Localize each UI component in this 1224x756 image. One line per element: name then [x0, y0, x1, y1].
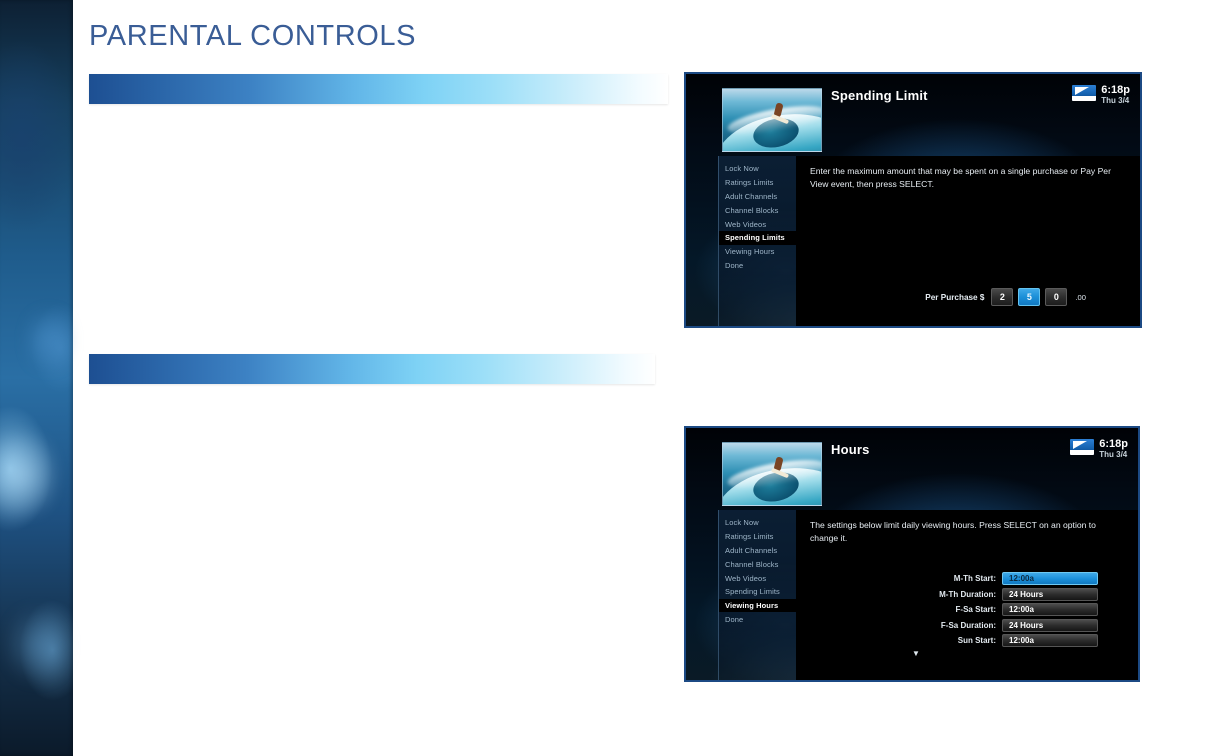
- brand-wordmark: [1070, 450, 1094, 455]
- nav-item-adult-channels[interactable]: Adult Channels: [719, 544, 797, 558]
- section-divider-bar-2: [89, 354, 655, 384]
- amount-digit-2[interactable]: 5: [1018, 288, 1040, 306]
- setting-label: M-Th Duration:: [939, 590, 996, 599]
- nav-item-ratings-limits[interactable]: Ratings Limits: [719, 176, 797, 190]
- nav-item-done[interactable]: Done: [719, 612, 797, 626]
- left-decorative-strip: [0, 0, 73, 756]
- parental-controls-nav[interactable]: Lock Now Ratings Limits Adult Channels C…: [718, 156, 798, 326]
- satellite-dish-icon: [1075, 87, 1089, 95]
- setting-value[interactable]: 24 Hours: [1002, 588, 1098, 601]
- amount-cents: .00: [1075, 293, 1086, 302]
- video-thumbnail: [722, 88, 822, 152]
- light-blob-icon: [26, 300, 72, 380]
- provider-logo-icon: [1072, 85, 1096, 101]
- page-title: PARENTAL CONTROLS: [89, 20, 416, 53]
- amount-digit-3[interactable]: 0: [1045, 288, 1067, 306]
- nav-item-web-videos[interactable]: Web Videos: [719, 571, 797, 585]
- screen-title: Spending Limit: [831, 88, 928, 103]
- setting-row-sun-start[interactable]: Sun Start: 12:00a: [796, 634, 1098, 647]
- setting-label: F-Sa Duration:: [941, 621, 996, 630]
- setting-value[interactable]: 12:00a: [1002, 572, 1098, 585]
- nav-item-lock-now[interactable]: Lock Now: [719, 162, 797, 176]
- setting-row-fsa-duration[interactable]: F-Sa Duration: 24 Hours: [796, 619, 1098, 632]
- setting-row-mth-duration[interactable]: M-Th Duration: 24 Hours: [796, 588, 1098, 601]
- nav-item-spending-limits[interactable]: Spending Limits: [719, 585, 797, 599]
- clock-block: 6:18p Thu 3/4: [1072, 85, 1130, 105]
- section-divider-bar-1: [89, 74, 668, 104]
- spending-limit-entry[interactable]: Per Purchase $ 2 5 0 .00: [796, 288, 1140, 306]
- nav-item-spending-limits[interactable]: Spending Limits: [719, 231, 797, 245]
- content-panel: Enter the maximum amount that may be spe…: [796, 156, 1140, 326]
- setting-value[interactable]: 12:00a: [1002, 634, 1098, 647]
- nav-item-viewing-hours[interactable]: Viewing Hours: [719, 599, 797, 613]
- screen-title: Hours: [831, 442, 870, 457]
- provider-logo-icon: [1070, 439, 1094, 455]
- setting-label: M-Th Start:: [954, 574, 996, 583]
- parental-controls-nav[interactable]: Lock Now Ratings Limits Adult Channels C…: [718, 510, 798, 680]
- video-thumbnail: [722, 442, 822, 506]
- nav-item-channel-blocks[interactable]: Channel Blocks: [719, 203, 797, 217]
- per-purchase-label: Per Purchase $: [925, 293, 984, 302]
- clock-date: Thu 3/4: [1101, 97, 1130, 105]
- screenshot-spending-limit: Spending Limit 6:18p Thu 3/4 Lock Now Ra…: [684, 72, 1142, 328]
- clock-date: Thu 3/4: [1099, 451, 1128, 459]
- instruction-text: The settings below limit daily viewing h…: [796, 510, 1138, 546]
- nav-item-web-videos[interactable]: Web Videos: [719, 217, 797, 231]
- setting-row-mth-start[interactable]: M-Th Start: 12:00a: [796, 572, 1098, 585]
- setting-row-fsa-start[interactable]: F-Sa Start: 12:00a: [796, 603, 1098, 616]
- brand-wordmark: [1072, 96, 1096, 101]
- screenshot-viewing-hours: Hours 6:18p Thu 3/4 Lock Now Ratings Lim…: [684, 426, 1140, 682]
- nav-item-done[interactable]: Done: [719, 258, 797, 272]
- clock-time: 6:18p: [1101, 85, 1130, 97]
- clock-time: 6:18p: [1099, 439, 1128, 451]
- amount-digit-1[interactable]: 2: [991, 288, 1013, 306]
- setting-label: F-Sa Start:: [956, 605, 996, 614]
- instruction-text: Enter the maximum amount that may be spe…: [796, 156, 1140, 192]
- satellite-dish-icon: [1073, 441, 1087, 449]
- setting-value[interactable]: 24 Hours: [1002, 619, 1098, 632]
- light-blob-icon: [0, 420, 56, 530]
- setting-label: Sun Start:: [958, 636, 996, 645]
- viewing-hours-settings[interactable]: M-Th Start: 12:00a M-Th Duration: 24 Hou…: [796, 572, 1138, 658]
- light-blob-icon: [8, 600, 68, 690]
- clock-block: 6:18p Thu 3/4: [1070, 439, 1128, 459]
- scroll-down-caret-icon[interactable]: ▼: [796, 650, 1098, 658]
- content-panel: The settings below limit daily viewing h…: [796, 510, 1138, 680]
- nav-item-ratings-limits[interactable]: Ratings Limits: [719, 530, 797, 544]
- setting-value[interactable]: 12:00a: [1002, 603, 1098, 616]
- nav-item-channel-blocks[interactable]: Channel Blocks: [719, 557, 797, 571]
- nav-item-viewing-hours[interactable]: Viewing Hours: [719, 245, 797, 259]
- nav-item-lock-now[interactable]: Lock Now: [719, 516, 797, 530]
- nav-item-adult-channels[interactable]: Adult Channels: [719, 190, 797, 204]
